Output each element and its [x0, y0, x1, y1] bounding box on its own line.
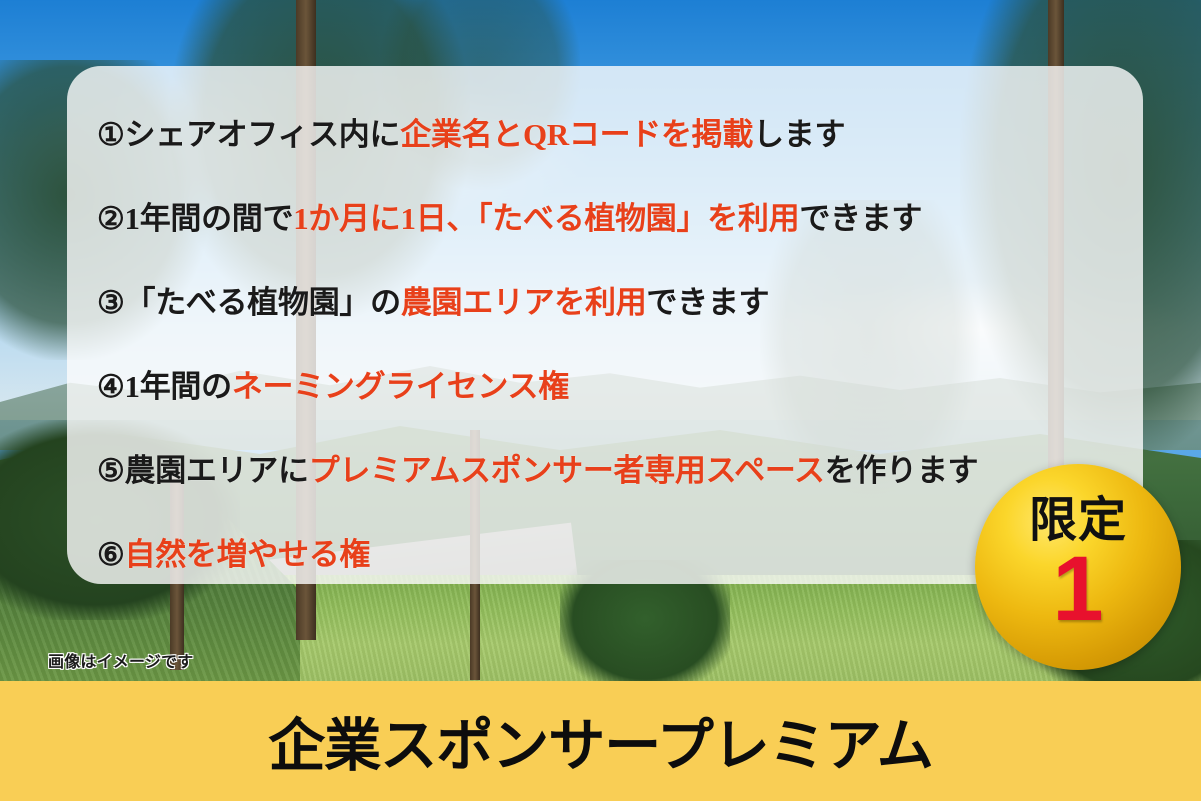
- benefit-text-6b: 自然を増やせる権: [125, 539, 371, 570]
- benefit-text-4a: 1年間の: [125, 371, 232, 402]
- benefit-item-1: ①シェアオフィス内に企業名とQRコードを掲載します: [97, 92, 1113, 176]
- limited-badge-number: 1: [1052, 547, 1103, 632]
- benefit-text-3a: 「たべる植物園」の: [125, 287, 401, 318]
- limited-quantity-badge: 限定 1: [975, 464, 1181, 670]
- benefit-text-5c: を作ります: [825, 455, 979, 486]
- sponsor-plan-poster: ①シェアオフィス内に企業名とQRコードを掲載します ②1年間の間で1か月に1日、…: [0, 0, 1201, 801]
- benefit-marker-3: ③: [97, 287, 125, 318]
- benefit-text-3b: 農園エリアを利用: [401, 287, 647, 318]
- plan-title: 企業スポンサープレミアム: [268, 700, 933, 782]
- benefit-text-5b: プレミアムスポンサー者専用スペース: [309, 455, 825, 486]
- benefit-item-2: ②1年間の間で1か月に1日、「たべる植物園」を利用できます: [97, 176, 1113, 260]
- benefit-marker-4: ④: [97, 371, 125, 402]
- benefit-text-5a: 農園エリアに: [125, 455, 309, 486]
- benefit-text-4b: ネーミングライセンス権: [232, 371, 569, 402]
- benefit-item-3: ③「たべる植物園」の農園エリアを利用できます: [97, 260, 1113, 344]
- benefit-item-6: ⑥自然を増やせる権: [97, 512, 1113, 596]
- benefit-text-2c: できます: [799, 203, 922, 234]
- benefit-text-1c: します: [753, 119, 845, 150]
- benefit-item-5: ⑤農園エリアにプレミアムスポンサー者専用スペースを作ります: [97, 428, 1113, 512]
- benefit-text-1b: 企業名とQRコードを掲載: [400, 119, 753, 150]
- benefits-panel: ①シェアオフィス内に企業名とQRコードを掲載します ②1年間の間で1か月に1日、…: [67, 66, 1143, 584]
- benefit-marker-2: ②: [97, 203, 125, 234]
- benefit-marker-1: ①: [97, 119, 125, 150]
- plan-title-bar: 企業スポンサープレミアム: [0, 681, 1201, 801]
- benefit-text-2b: 1か月に1日、「たべる植物園」を利用: [293, 203, 799, 234]
- photo-disclaimer-note: 画像はイメージです: [48, 648, 193, 672]
- benefit-marker-6: ⑥: [97, 539, 125, 570]
- benefit-text-2a: 1年間の間で: [125, 203, 294, 234]
- benefit-item-4: ④1年間のネーミングライセンス権: [97, 344, 1113, 428]
- benefit-text-3c: できます: [646, 287, 769, 318]
- benefit-marker-5: ⑤: [97, 455, 125, 486]
- benefit-text-1a: シェアオフィス内に: [125, 119, 401, 150]
